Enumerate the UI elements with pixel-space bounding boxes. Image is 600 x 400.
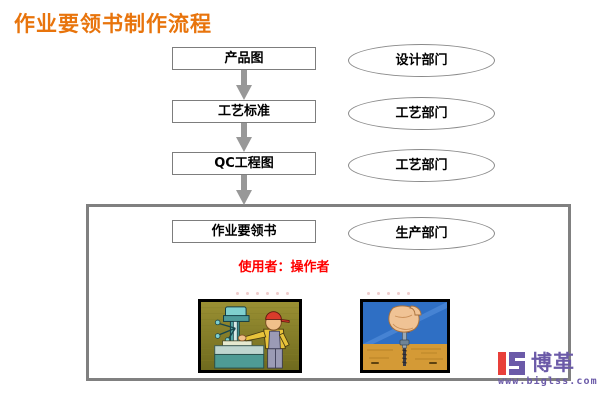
decorative-dots-left — [236, 292, 289, 296]
photo-drill-press — [198, 299, 302, 373]
process-box-label: QC工程图 — [214, 157, 274, 170]
brand-logo: 博革 www.biglss.com — [498, 349, 598, 395]
department-ellipse-process-2[interactable]: 工艺部门 — [348, 149, 495, 182]
flow-arrow-down-1 — [236, 70, 252, 100]
bg-monogram-icon — [498, 351, 528, 376]
diagram-canvas: 作业要领书制作流程 产品图 工艺标准 QC工程图 作业要领书 设计部门 工艺部门… — [0, 0, 600, 400]
process-box-label: 作业要领书 — [211, 225, 276, 238]
user-note: 使用者：操作者 — [238, 256, 329, 275]
page-title: 作业要领书制作流程 — [14, 8, 212, 38]
process-box-process-standard[interactable]: 工艺标准 — [172, 100, 316, 123]
department-ellipse-production[interactable]: 生产部门 — [348, 217, 495, 250]
process-box-label: 产品图 — [224, 52, 263, 65]
flow-arrow-down-3 — [236, 175, 252, 205]
department-ellipse-design[interactable]: 设计部门 — [348, 44, 495, 77]
process-box-product-drawing[interactable]: 产品图 — [172, 47, 316, 70]
process-box-label: 工艺标准 — [218, 105, 270, 118]
department-label: 工艺部门 — [395, 107, 447, 120]
process-box-work-instruction[interactable]: 作业要领书 — [172, 220, 316, 243]
department-label: 工艺部门 — [395, 159, 447, 172]
process-box-qc-engineering-drawing[interactable]: QC工程图 — [172, 152, 316, 175]
flow-arrow-down-2 — [236, 123, 252, 152]
brand-name: 博革 — [531, 350, 575, 376]
brand-url: www.biglss.com — [498, 376, 598, 387]
department-label: 生产部门 — [395, 227, 447, 240]
department-ellipse-process-1[interactable]: 工艺部门 — [348, 97, 495, 130]
decorative-dots-right — [367, 292, 410, 296]
department-label: 设计部门 — [395, 54, 447, 67]
photo-screwdriver — [360, 299, 450, 373]
